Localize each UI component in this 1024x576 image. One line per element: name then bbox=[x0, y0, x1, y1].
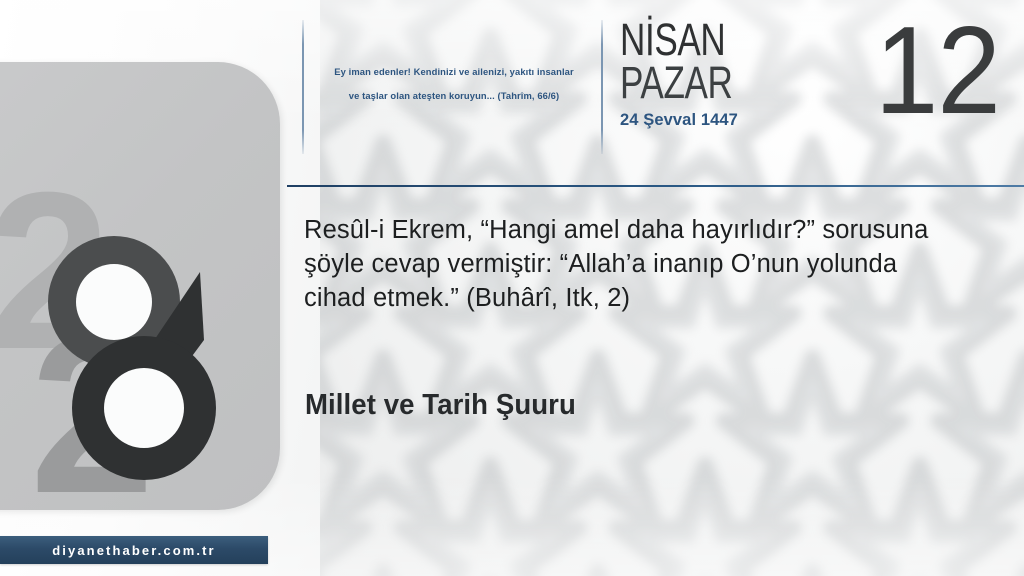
year-2026-logo: 2 2 bbox=[0, 162, 240, 492]
calendar-page: 2 2 Ey iman edenler! Kendinizi ve aileni… bbox=[0, 0, 1024, 576]
divider-vertical-right bbox=[601, 20, 603, 154]
hijri-date-label: 24 Şevval 1447 bbox=[620, 111, 850, 130]
hadith-line-2: şöyle cevap vermiştir: “Allah’a inanıp O… bbox=[304, 248, 944, 282]
hadith-line-1: Resûl-i Ekrem, “Hangi amel daha hayırlıd… bbox=[304, 214, 944, 248]
month-label: NİSAN bbox=[620, 18, 799, 61]
date-block: NİSAN PAZAR 24 Şevval 1447 bbox=[620, 18, 850, 130]
quran-verse: Ey iman edenler! Kendinizi ve ailenizi, … bbox=[312, 60, 596, 109]
logo-digit-0-inner bbox=[76, 264, 152, 340]
day-number: 12 bbox=[875, 6, 1000, 136]
website-url-label: diyanethaber.com.tr bbox=[52, 543, 215, 558]
hadith-line-3: cihad etmek.” (Buhârî, Itk, 2) bbox=[304, 282, 944, 316]
divider-horizontal bbox=[287, 185, 1024, 187]
quran-verse-line-2: ve taşlar olan ateşten koruyun... (Tahrî… bbox=[312, 84, 596, 108]
quran-verse-line-1: Ey iman edenler! Kendinizi ve ailenizi, … bbox=[312, 60, 596, 84]
divider-vertical-left bbox=[302, 20, 304, 154]
website-footer-bar[interactable]: diyanethaber.com.tr bbox=[0, 536, 268, 564]
weekday-label: PAZAR bbox=[620, 61, 799, 104]
hadith-text: Resûl-i Ekrem, “Hangi amel daha hayırlıd… bbox=[304, 214, 944, 316]
year-logo-panel: 2 2 bbox=[0, 62, 280, 510]
topic-title: Millet ve Tarih Şuuru bbox=[305, 389, 576, 422]
logo-digit-6-inner bbox=[104, 368, 184, 448]
